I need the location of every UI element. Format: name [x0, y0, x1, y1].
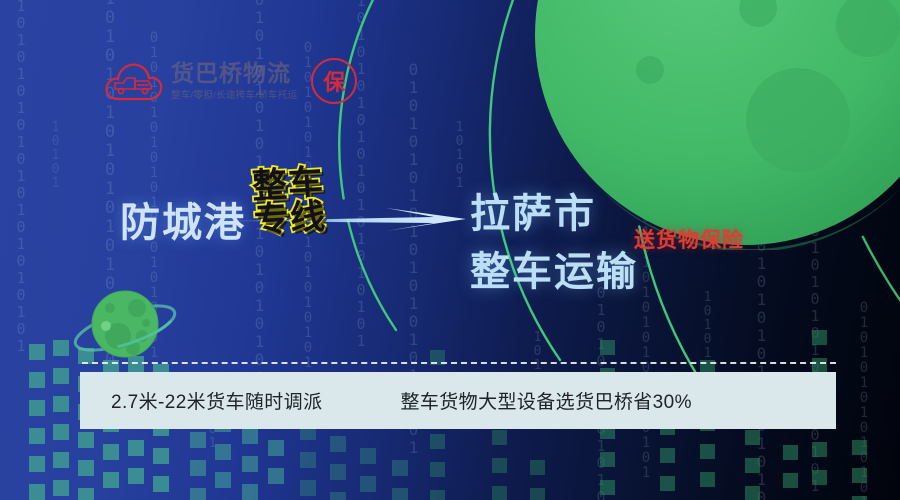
binary-column: 10101: [452, 120, 467, 190]
bar-right-text: 整车货物大型设备选货巴桥省30%: [400, 387, 691, 414]
route-badge: 整车 专线: [251, 166, 327, 237]
brand-subtitle: 整车/零担/长途挎车/轿车托运: [171, 87, 297, 101]
stamp-label: 保: [323, 65, 345, 97]
insurance-note: 送货物保险: [634, 224, 744, 254]
dashed-divider: [82, 362, 836, 364]
binary-column: 0101010101010101010101: [352, 0, 370, 349]
cloud-truck-icon: [103, 59, 165, 103]
binary-column: 0101010101010101010101: [12, 0, 30, 354]
binary-column: 0101010101010101010101: [856, 300, 872, 500]
poster-canvas: 0101010101010101010101 10101 01010101010…: [0, 0, 900, 500]
bottom-info-bar: 2.7米-22米货车随时调派 整车货物大型设备选货巴桥省30%: [80, 372, 836, 429]
origin-city: 防城港: [120, 190, 246, 248]
destination-city: 拉萨市: [470, 185, 638, 243]
bar-left-text: 2.7米-22米货车随时调派: [111, 387, 322, 414]
route-badge-line2: 专线: [253, 199, 327, 237]
binary-column: 10101: [700, 290, 715, 360]
brand-title: 货巴桥物流: [171, 61, 297, 85]
destination-block: 拉萨市 整车运输: [470, 185, 638, 301]
insurance-stamp-icon: 保: [311, 58, 357, 104]
destination-service: 整车运输: [470, 243, 638, 301]
brand-logo[interactable]: 货巴桥物流 整车/零担/长途挎车/轿车托运 保: [103, 58, 357, 104]
ringed-planet-icon: [70, 278, 180, 373]
binary-column: 10101: [48, 120, 63, 190]
